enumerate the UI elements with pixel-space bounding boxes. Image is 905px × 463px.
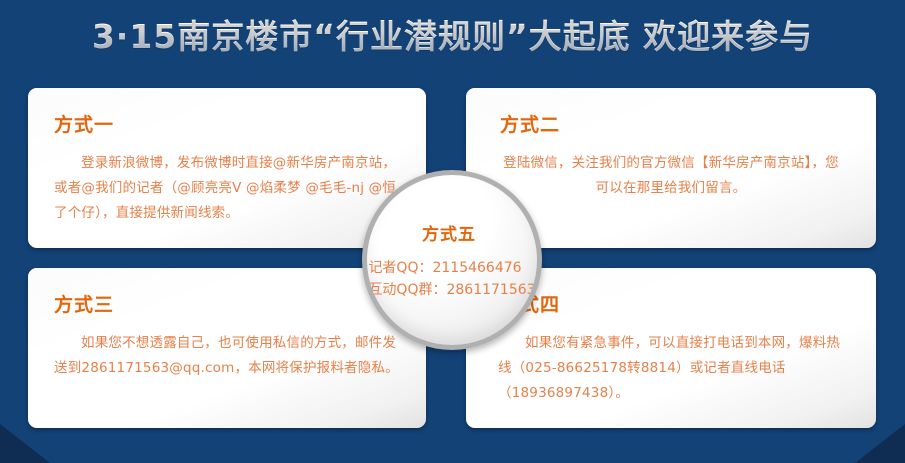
circle-reporter-qq: 记者QQ：2115466476 [368, 257, 535, 279]
panel-one-heading: 方式一 [54, 110, 400, 137]
panel-three-body: 如果您不想透露自己，也可使用私信的方式，邮件发送到2861171563@qq.c… [54, 331, 400, 381]
circle-group-qq: 互动QQ群：2861171563 [368, 279, 535, 301]
panel-two-body: 登陆微信，关注我们的官方微信【新华房产南京站】，您可以在那里给我们留言。 [492, 151, 850, 201]
circle-contact-list: 记者QQ：2115466476 互动QQ群：2861171563 [368, 257, 535, 301]
page-title: 3·15南京楼市“行业潜规则”大起底 欢迎来参与 [0, 8, 905, 60]
panel-four-body: 如果您有紧急事件，可以直接打电话到本网，爆料热线（025-86625178转88… [492, 331, 850, 406]
panel-one: 方式一 登录新浪微博，发布微博时直接@新华房产南京站，或者@我们的记者（@顾亮亮… [28, 88, 426, 248]
panel-four-heading: 方式四 [500, 290, 850, 317]
panel-one-body: 登录新浪微博，发布微博时直接@新华房产南京站，或者@我们的记者（@顾亮亮V @焰… [54, 151, 400, 226]
panel-three: 方式三 如果您不想透露自己，也可使用私信的方式，邮件发送到2861171563@… [28, 268, 426, 428]
circle-heading: 方式五 [422, 220, 476, 245]
poster-root: 3·15南京楼市“行业潜规则”大起底 欢迎来参与 方式一 登录新浪微博，发布微博… [0, 0, 905, 463]
center-circle-badge: 方式五 记者QQ：2115466476 互动QQ群：2861171563 [362, 170, 542, 350]
panel-three-heading: 方式三 [54, 290, 400, 317]
panel-two-heading: 方式二 [500, 110, 850, 137]
page-title-text: 3·15南京楼市“行业潜规则”大起底 欢迎来参与 [92, 10, 813, 58]
